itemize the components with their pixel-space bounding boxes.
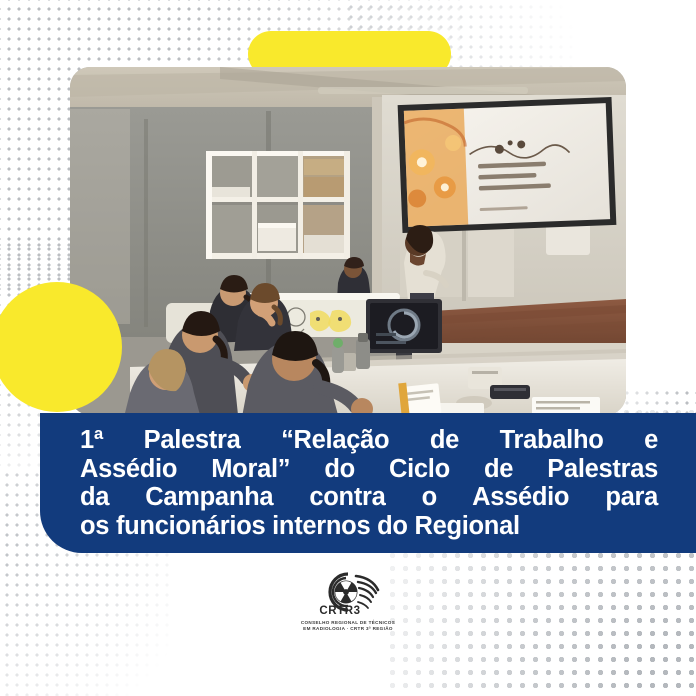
- headline-line-1: 1ª Palestra “Relação de Trabalho e: [80, 426, 658, 455]
- headline-line-3: da Campanha contra o Assédio para: [80, 483, 658, 512]
- crtr3-subtitle-line-2: EM RADIOLOGIA · CRTR 3ª REGIÃO: [301, 626, 395, 632]
- event-photo-illustration: [70, 67, 626, 415]
- event-photo: [70, 67, 626, 415]
- headline-line-2: Assédio Moral” do Ciclo de Palestras: [80, 455, 658, 484]
- headline-banner: 1ª Palestra “Relação de Trabalho e Asséd…: [40, 413, 696, 553]
- poster-canvas: 1ª Palestra “Relação de Trabalho e Asséd…: [0, 0, 696, 696]
- crtr3-subtitle: CONSELHO REGIONAL DE TÉCNICOS EM RADIOLO…: [301, 620, 395, 632]
- headline-line-4: os funcionários internos do Regional: [80, 512, 658, 541]
- headline-text: 1ª Palestra “Relação de Trabalho e Asséd…: [40, 426, 696, 540]
- radiation-trefoil-icon: [312, 572, 384, 616]
- crtr3-logo: CRTR3 CONSELHO REGIONAL DE TÉCNICOS EM R…: [0, 572, 696, 632]
